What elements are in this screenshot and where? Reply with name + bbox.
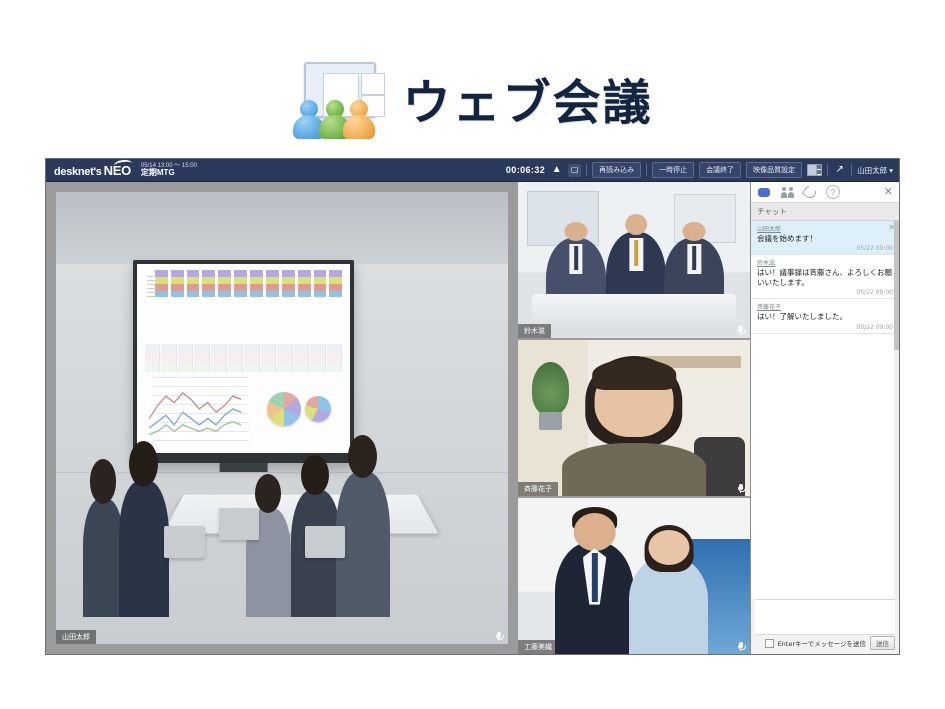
participant-name: 斉藤花子 bbox=[518, 482, 558, 496]
chat-message: 鈴木滋 はい！議事録は斉藤さん、よろしくお願いいたします。 05/22 09:0… bbox=[751, 255, 899, 299]
mic-icon[interactable] bbox=[494, 629, 504, 641]
toolbar-actions: 00:06:32 ▲ ▢ 再読み込み 一時停止 会議終了 映像品質設定 ↗ 山田… bbox=[506, 162, 899, 178]
message-sender: 鈴木滋 bbox=[757, 258, 893, 267]
chat-panel-title: チャット bbox=[751, 203, 899, 221]
message-sender: 斉藤花子 bbox=[757, 302, 893, 311]
chat-panel: ? ✕ チャット 山田太郎 会議を始めます！ 05/22 09:00 ✕ 鈴木滋… bbox=[750, 182, 899, 654]
mic-icon[interactable] bbox=[736, 639, 746, 651]
chat-tabbar: ? ✕ bbox=[751, 182, 899, 203]
divider bbox=[586, 164, 587, 176]
projection-screen bbox=[133, 260, 354, 463]
meeting-name: 定期MTG bbox=[141, 169, 197, 177]
message-time: 05/22 09:00 bbox=[757, 289, 893, 296]
chat-message: 山田太郎 会議を始めます！ 05/22 09:00 ✕ bbox=[751, 221, 899, 255]
enter-to-send-label: Enterキーでメッセージを送信 bbox=[778, 638, 866, 648]
slide-data-table bbox=[145, 344, 342, 372]
participant-tile[interactable]: 鈴木滋 bbox=[518, 182, 750, 340]
meeting-timer: 00:06:32 bbox=[506, 165, 545, 175]
divider bbox=[827, 164, 828, 176]
participant-thumbnails: 鈴木滋 斉藤花子 bbox=[518, 182, 750, 654]
screen-share-icon[interactable]: ▢ bbox=[568, 164, 581, 177]
participant-silhouette bbox=[83, 499, 124, 617]
avatar-orange-icon bbox=[342, 100, 376, 138]
page-header: ウェブ会議 bbox=[0, 52, 945, 144]
mic-icon[interactable] bbox=[736, 481, 746, 493]
meeting-info: 05/14 13:00 ～ 15:00 定期MTG bbox=[141, 163, 197, 178]
chevron-up-icon[interactable]: ▲ bbox=[550, 164, 563, 177]
mic-icon[interactable] bbox=[736, 323, 746, 335]
slide-pie-charts bbox=[255, 377, 342, 441]
main-stage: 山田太郎 bbox=[46, 182, 518, 654]
app-body: 山田太郎 bbox=[46, 182, 899, 654]
logo-swoosh-icon bbox=[113, 158, 132, 169]
chat-message: 斉藤花子 はい！了解いたしました。 05/22 09:00 bbox=[751, 299, 899, 333]
attachment-icon[interactable] bbox=[803, 185, 817, 199]
layout-switch-icon[interactable] bbox=[807, 164, 822, 176]
user-menu[interactable]: 山田太郎 ▾ bbox=[857, 165, 893, 176]
reload-button[interactable]: 再読み込み bbox=[592, 162, 641, 178]
expand-icon[interactable]: ↗ bbox=[833, 164, 846, 177]
chat-input[interactable] bbox=[755, 599, 895, 635]
participant-tile[interactable]: 斉藤花子 bbox=[518, 340, 750, 498]
send-button[interactable]: 送信 bbox=[870, 636, 895, 650]
logo-brand: desknet's bbox=[54, 166, 102, 178]
participant-tile[interactable]: 工藤美織 bbox=[518, 498, 750, 654]
enter-to-send-checkbox[interactable] bbox=[765, 639, 774, 648]
message-time: 05/22 09:00 bbox=[757, 245, 893, 252]
presentation-slide bbox=[137, 264, 350, 453]
divider bbox=[646, 164, 647, 176]
app-logo: desknet'sNEO bbox=[46, 163, 131, 178]
participants-icon[interactable] bbox=[780, 185, 794, 199]
chat-send-row: Enterキーでメッセージを送信 送信 bbox=[751, 635, 899, 654]
message-text: はい！了解いたしました。 bbox=[757, 312, 893, 322]
chat-scrollbar[interactable] bbox=[894, 221, 899, 599]
main-video-tile[interactable]: 山田太郎 bbox=[56, 192, 508, 644]
page-title: ウェブ会議 bbox=[402, 63, 652, 133]
end-meeting-button[interactable]: 会議終了 bbox=[699, 162, 741, 178]
chat-bubble-icon[interactable] bbox=[757, 185, 771, 199]
web-conference-app: desknet'sNEO 05/14 13:00 ～ 15:00 定期MTG 0… bbox=[45, 158, 900, 655]
message-text: 会議を始めます！ bbox=[757, 234, 893, 244]
app-toolbar: desknet'sNEO 05/14 13:00 ～ 15:00 定期MTG 0… bbox=[46, 159, 899, 182]
pause-button[interactable]: 一時停止 bbox=[652, 162, 694, 178]
close-icon[interactable]: ✕ bbox=[884, 187, 893, 198]
chat-message-list[interactable]: 山田太郎 会議を始めます！ 05/22 09:00 ✕ 鈴木滋 はい！議事録は斉… bbox=[751, 221, 899, 599]
divider bbox=[851, 164, 852, 176]
message-sender: 山田太郎 bbox=[757, 224, 893, 233]
message-text: はい！議事録は斉藤さん、よろしくお願いいたします。 bbox=[757, 268, 893, 288]
web-conference-icon bbox=[292, 58, 384, 138]
video-quality-button[interactable]: 映像品質設定 bbox=[746, 162, 802, 178]
page-root: ウェブ会議 desknet'sNEO 05/14 13:00 ～ 15:00 定… bbox=[0, 0, 945, 709]
participant-name: 鈴木滋 bbox=[518, 324, 551, 338]
main-video-name: 山田太郎 bbox=[56, 630, 96, 644]
help-icon[interactable]: ? bbox=[826, 185, 840, 199]
message-time: 05/22 09:00 bbox=[757, 324, 893, 331]
slide-line-chart bbox=[145, 377, 249, 441]
participant-name: 工藤美織 bbox=[518, 640, 558, 654]
participant-silhouette bbox=[119, 481, 169, 617]
